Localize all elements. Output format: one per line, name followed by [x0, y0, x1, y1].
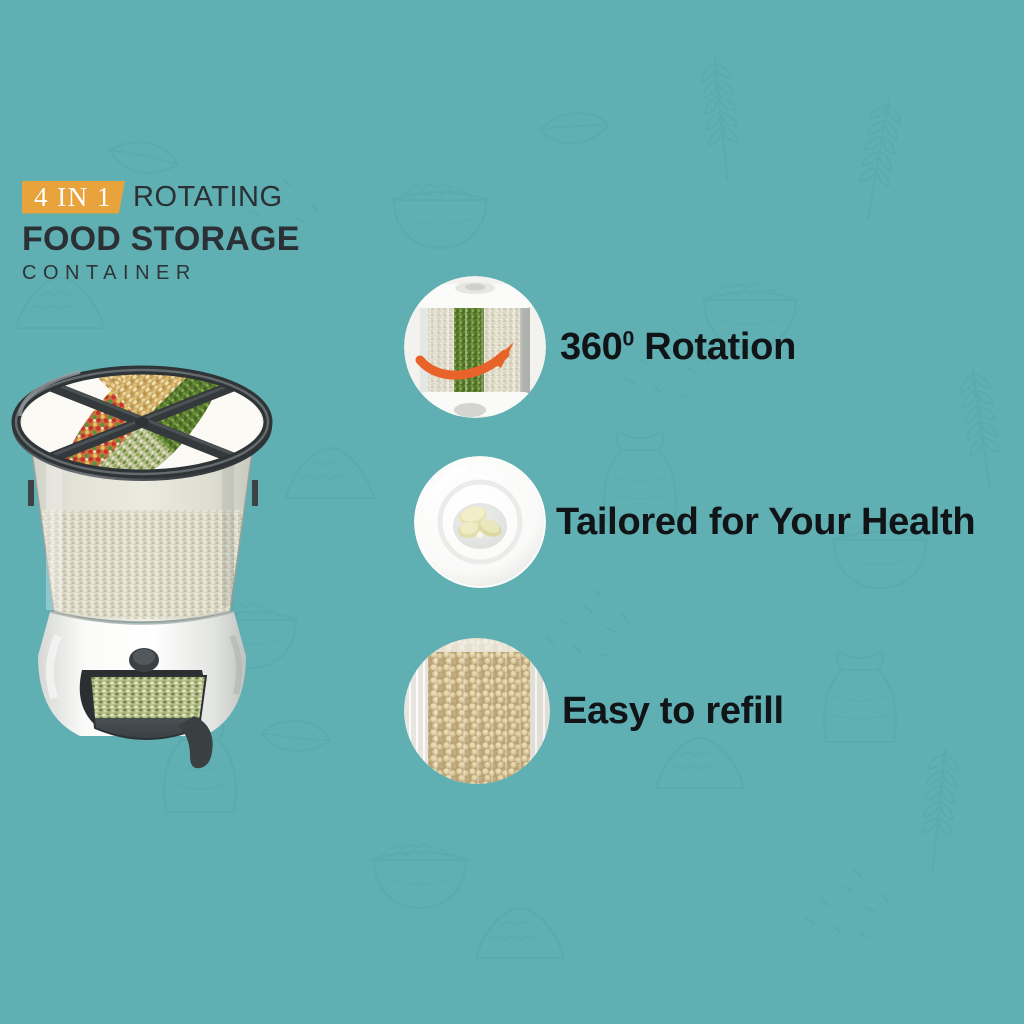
feature-row-health: Tailored for Your Health	[414, 456, 975, 588]
feature-row-refill: Easy to refill	[404, 638, 784, 784]
product-base	[38, 612, 246, 768]
feature-label-refill: Easy to refill	[562, 690, 784, 733]
four-in-one-badge: 4 IN 1	[22, 181, 125, 214]
feature-row-rotation: 3600 Rotation	[404, 276, 796, 418]
container-rotating-grains-photo	[404, 276, 546, 418]
headline-line-1: 4 IN 1 ROTATING	[22, 180, 442, 214]
headline-line-2: FOOD STORAGE	[22, 220, 442, 258]
infographic-canvas: 4 IN 1 ROTATING FOOD STORAGE CONTAINER	[0, 0, 1024, 1024]
main-product-image	[0, 360, 304, 790]
container-filled-chickpeas-photo	[404, 638, 550, 784]
headline-line-3: CONTAINER	[22, 261, 442, 285]
headline-block: 4 IN 1 ROTATING FOOD STORAGE CONTAINER	[22, 180, 442, 285]
feature-label-health: Tailored for Your Health	[556, 501, 975, 544]
feature-label-rotation: 3600 Rotation	[560, 326, 796, 369]
headline-rotating-word: ROTATING	[133, 182, 283, 212]
white-bowl-garlic-cloves-photo	[414, 456, 546, 588]
